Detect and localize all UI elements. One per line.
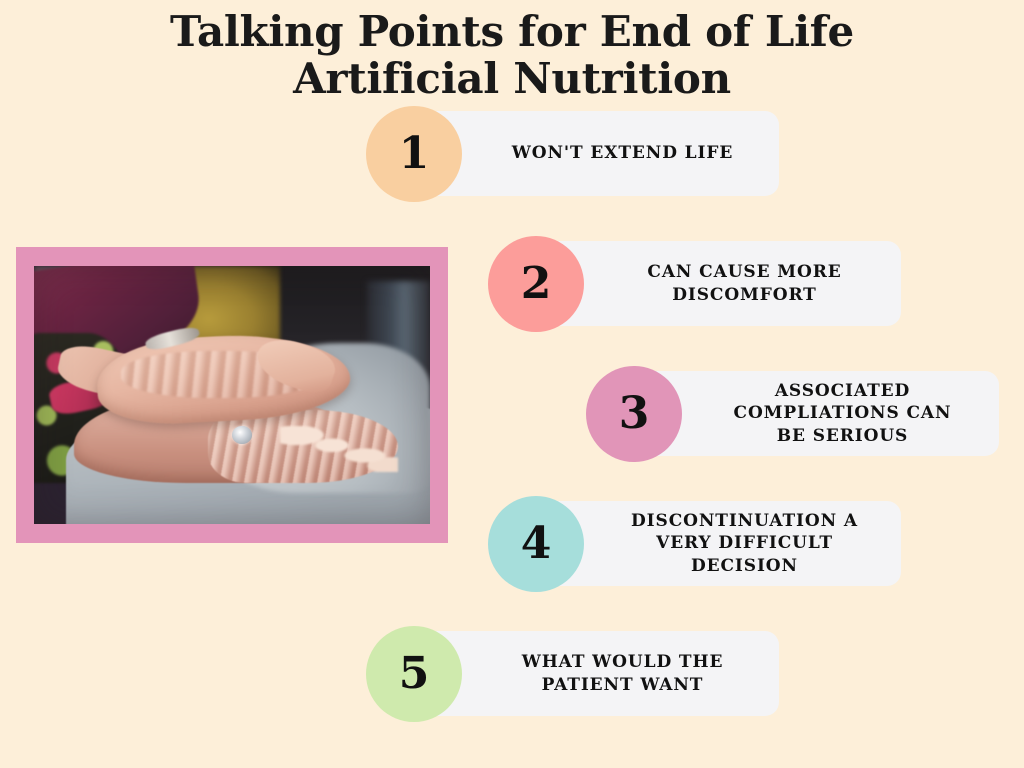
photo-vignette <box>34 266 430 524</box>
page-title: Talking Points for End of Life Artificia… <box>100 8 924 103</box>
talking-point-number-3: 3 <box>619 392 650 436</box>
talking-point-number-2: 2 <box>521 262 552 306</box>
talking-point-badge-3: 3 <box>586 366 682 462</box>
talking-point-badge-5: 5 <box>366 626 462 722</box>
talking-point-badge-2: 2 <box>488 236 584 332</box>
talking-point-badge-1: 1 <box>366 106 462 202</box>
talking-point-number-4: 4 <box>521 522 552 566</box>
talking-point-number-1: 1 <box>399 132 430 176</box>
photo-frame <box>16 247 448 543</box>
talking-point-text-3: ASSOCIATED COMPLIATIONS CAN BE SERIOUS <box>686 371 999 456</box>
talking-point-number-5: 5 <box>399 652 430 696</box>
talking-point-text-2: CAN CAUSE MORE DISCOMFORT <box>588 241 901 326</box>
talking-point-text-1: WON'T EXTEND LIFE <box>466 111 779 196</box>
infographic-poster: Talking Points for End of Life Artificia… <box>0 0 1024 768</box>
talking-point-text-4: DISCONTINUATION A VERY DIFFICULT DECISIO… <box>588 501 901 586</box>
talking-point-badge-4: 4 <box>488 496 584 592</box>
elderly-hands-photo <box>34 266 430 524</box>
talking-point-text-5: WHAT WOULD THE PATIENT WANT <box>466 631 779 716</box>
